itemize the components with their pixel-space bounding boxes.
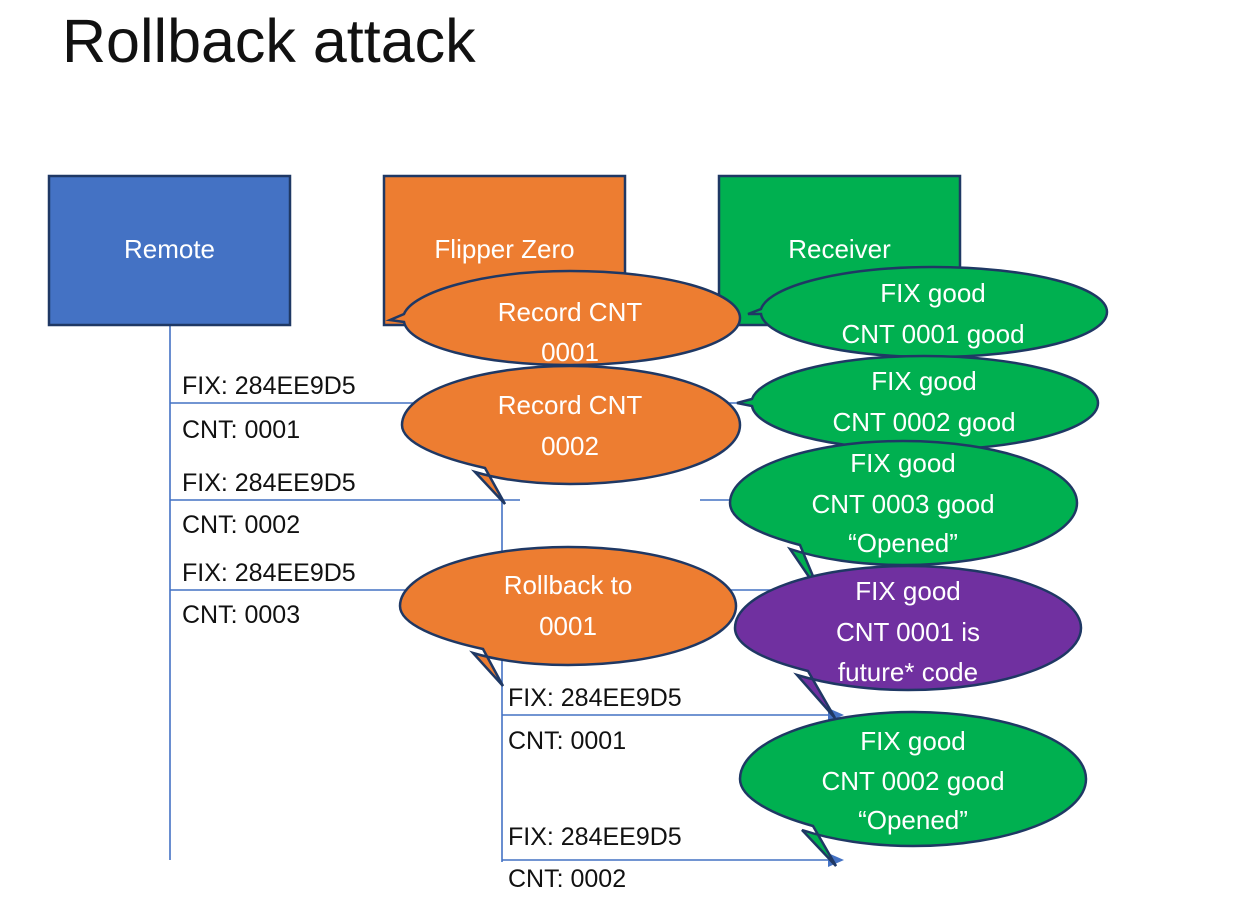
flipper-bubble-2[interactable]: Record CNT 0002 [402,366,740,504]
message-m4-cnt: CNT: 0001 [508,727,626,755]
message-m2-fix: FIX: 284EE9D5 [182,469,356,497]
message-m3-fix: FIX: 284EE9D5 [182,559,356,587]
receiver-bubble-1-line-1: FIX good [880,278,986,308]
receiver-bubble-5[interactable]: FIX good CNT 0002 good “Opened” [740,712,1086,866]
message-m3-cnt: CNT: 0003 [182,601,300,629]
sequence-diagram: Remote Flipper Zero Receiver FIX good CN… [0,0,1233,898]
lane-label-remote: Remote [124,234,215,264]
receiver-bubble-5-line-2: CNT 0002 good [821,766,1004,796]
flipper-bubble-3[interactable]: Rollback to 0001 [400,547,736,686]
flipper-bubble-2-line-2: 0002 [541,431,599,461]
flipper-bubble-3-line-1: Rollback to [504,570,633,600]
receiver-bubble-5-line-3: “Opened” [858,805,968,835]
flipper-bubble-3-line-2: 0001 [539,611,597,641]
flipper-bubble-2-line-1: Record CNT [498,390,643,420]
lane-label-flipper: Flipper Zero [434,234,574,264]
receiver-bubble-1-line-2: CNT 0001 good [841,319,1024,349]
receiver-bubble-2[interactable]: FIX good CNT 0002 good [737,356,1098,450]
message-m1-cnt: CNT: 0001 [182,416,300,444]
receiver-bubble-4-line-2: CNT 0001 is [836,617,980,647]
message-m5-cnt: CNT: 0002 [508,865,626,893]
receiver-bubble-4[interactable]: FIX good CNT 0001 is future* code [735,566,1081,718]
receiver-bubble-2-line-2: CNT 0002 good [832,407,1015,437]
receiver-bubble-3-line-3: “Opened” [848,528,958,558]
message-m2-cnt: CNT: 0002 [182,511,300,539]
receiver-bubble-3-line-1: FIX good [850,448,956,478]
receiver-bubble-2-line-1: FIX good [871,366,977,396]
message-m5-fix: FIX: 284EE9D5 [508,823,682,851]
receiver-bubble-4-line-3: future* code [838,657,978,687]
lane-label-receiver: Receiver [788,234,891,264]
receiver-bubble-4-line-1: FIX good [855,576,961,606]
message-m1-fix: FIX: 284EE9D5 [182,372,356,400]
flipper-bubble-1-line-1: Record CNT [498,297,643,327]
message-m4-fix: FIX: 284EE9D5 [508,684,682,712]
flipper-bubble-1-line-2: 0001 [541,337,599,367]
receiver-bubble-5-line-1: FIX good [860,726,966,756]
receiver-bubble-3-line-2: CNT 0003 good [811,489,994,519]
slide-canvas: Rollback attack Remote Flipper Zero Rece… [0,0,1233,898]
